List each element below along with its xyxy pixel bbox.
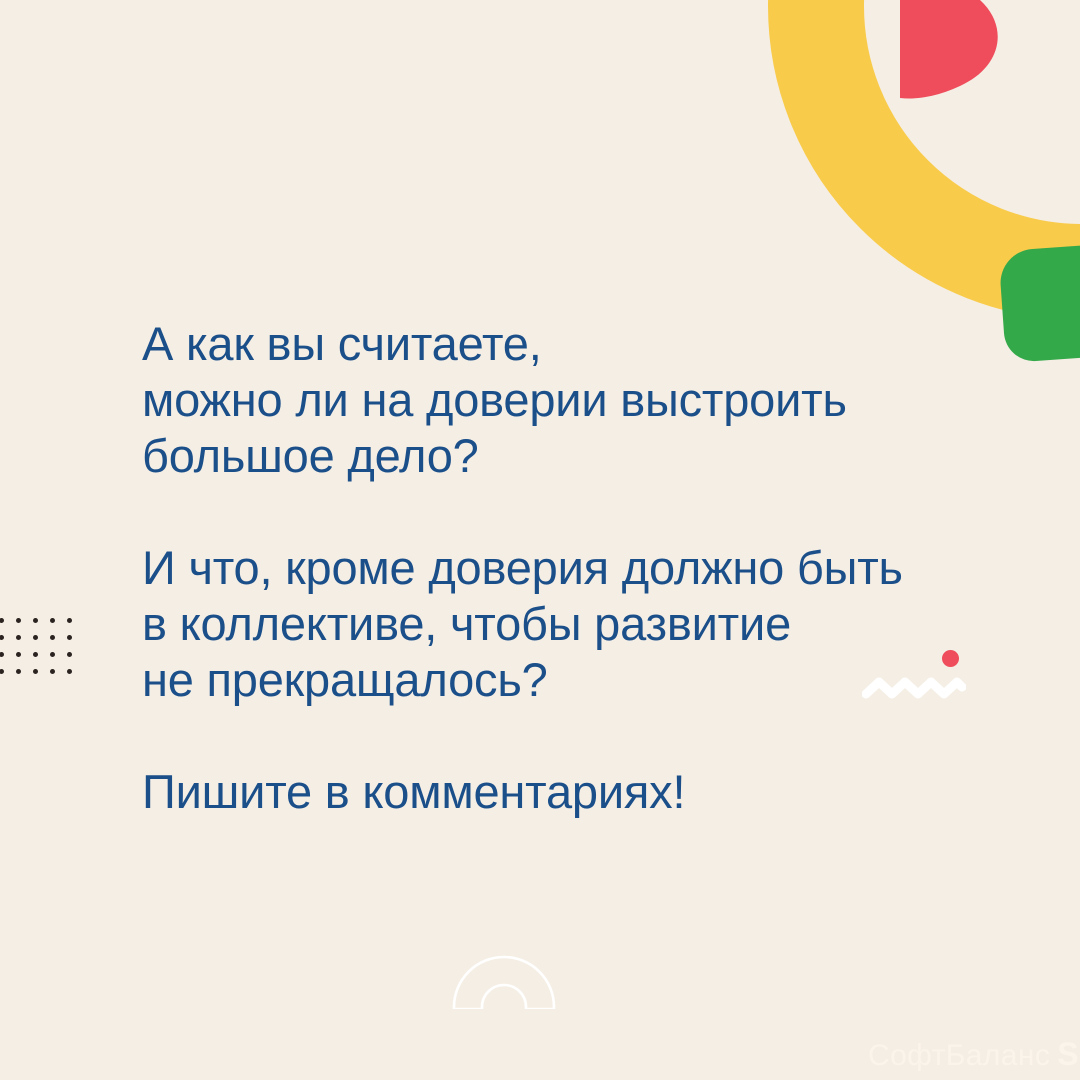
- paragraph-question-1: А как вы считаете, можно ли на доверии в…: [142, 316, 1022, 484]
- social-post-canvas: А как вы считаете, можно ли на доверии в…: [0, 0, 1080, 1080]
- paragraph-question-2: И что, кроме доверия должно быть в колле…: [142, 540, 1022, 708]
- brand-mark-icon: S: [1057, 1038, 1078, 1070]
- red-wave-icon: [900, 0, 1080, 118]
- brand-logo: СофтБаланс S: [868, 1038, 1079, 1071]
- brand-name: СофтБаланс: [868, 1041, 1050, 1071]
- paragraph-call-to-action: Пишите в комментариях!: [142, 764, 1022, 820]
- white-arch-icon: [452, 955, 556, 1009]
- dot-grid-icon: [0, 618, 72, 680]
- post-copy: А как вы считаете, можно ли на доверии в…: [142, 316, 1022, 820]
- yellow-ring-icon: [768, 0, 1080, 320]
